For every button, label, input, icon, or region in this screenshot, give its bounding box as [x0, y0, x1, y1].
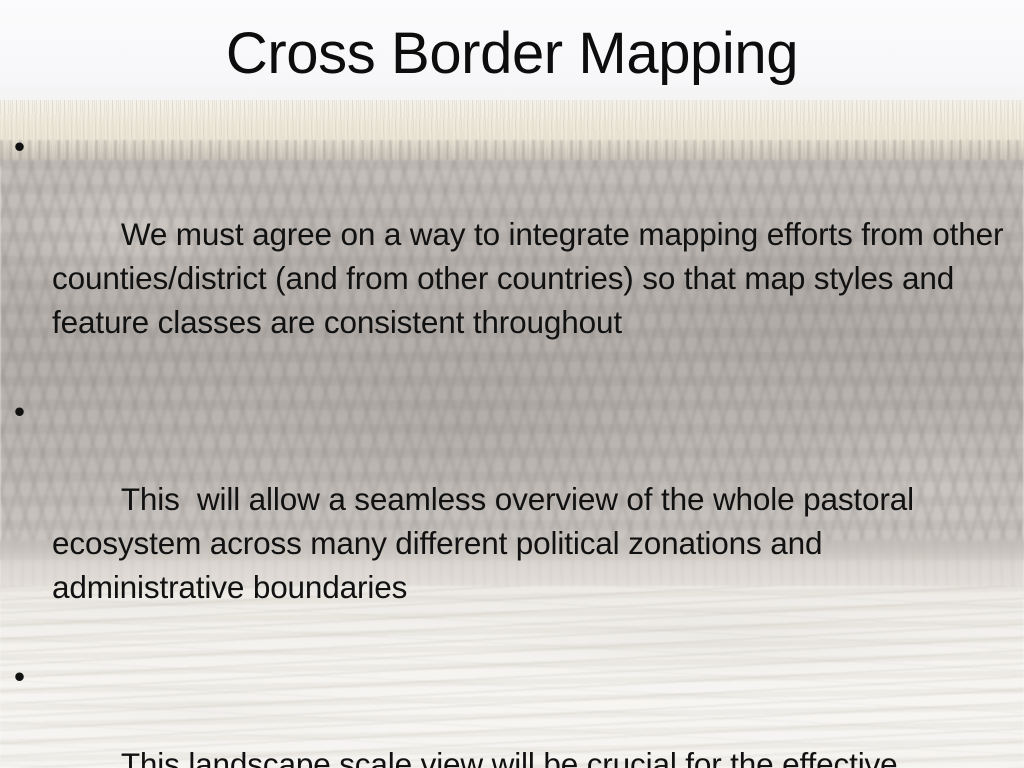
bullet-item-3: • This landscape scale view will be cruc… [10, 654, 1018, 768]
bullet-marker-icon: • [14, 389, 36, 433]
bullet-text: We must agree on a way to integrate mapp… [52, 216, 1012, 340]
presentation-slide: Cross Border Mapping • We must agree on … [0, 0, 1024, 768]
bullet-marker-icon: • [14, 654, 36, 698]
bullet-text: This landscape scale view will be crucia… [52, 746, 906, 768]
bullet-marker-icon: • [14, 124, 36, 168]
slide-content: Cross Border Mapping • We must agree on … [0, 0, 1024, 768]
bullet-list: • We must agree on a way to integrate ma… [10, 124, 1018, 768]
bullet-text: This will allow a seamless overview of t… [52, 481, 923, 605]
slide-title: Cross Border Mapping [0, 18, 1024, 90]
bullet-item-1: • We must agree on a way to integrate ma… [10, 124, 1018, 388]
bullet-item-2: • This will allow a seamless overview of… [10, 389, 1018, 653]
